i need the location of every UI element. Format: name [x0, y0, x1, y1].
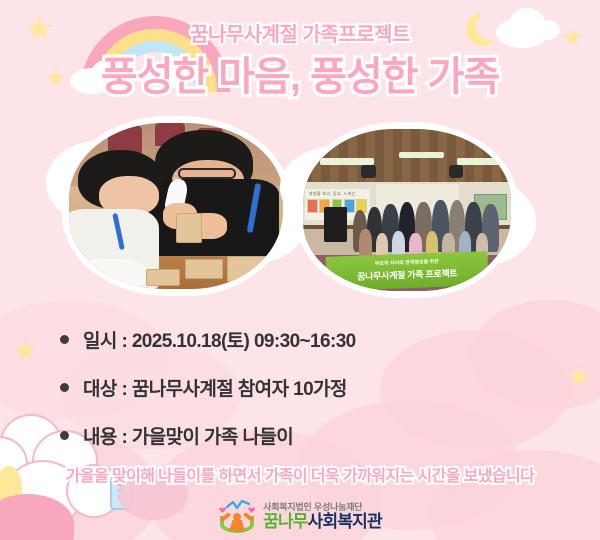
- detail-date: 일시 : 2025.10.18(토) 09:30~16:30: [83, 326, 356, 353]
- photo-board-text: 자연을 보고, 듣고, 느끼는: [309, 191, 356, 197]
- list-item: 대상 : 꿈나무사계절 참여자 10가정: [60, 374, 356, 401]
- organization-logo-icon: [218, 500, 256, 534]
- bullet-icon: [60, 335, 69, 344]
- poster-root: 꿈나무사계절 가족프로젝트 풍성한 마음, 풍성한 가족: [0, 0, 600, 540]
- center-name-green: 꿈나무: [263, 512, 308, 531]
- star-icon: [568, 366, 590, 388]
- foundation-name: 사회복지법인 우성나눔재단: [263, 503, 382, 512]
- photo-banner: 부모와 자녀의 관계형성을 위한 꿈나무사계절 가족 프로젝트: [325, 251, 488, 291]
- detail-content: 내용 : 가을맞이 가족 나들이: [83, 422, 293, 449]
- footer-logo: 사회복지법인 우성나눔재단 꿈나무사회복지관: [0, 500, 600, 534]
- center-name: 꿈나무사회복지관: [263, 513, 382, 531]
- swoosh-icon: [226, 500, 250, 511]
- center-name-navy: 사회복지관: [308, 512, 382, 531]
- bullet-icon: [60, 431, 69, 440]
- star-icon: [14, 340, 36, 362]
- detail-target: 대상 : 꿈나무사계절 참여자 10가정: [83, 374, 347, 401]
- organization-name: 사회복지법인 우성나눔재단 꿈나무사회복지관: [263, 503, 382, 531]
- heart-icon: [248, 507, 255, 513]
- photo-group-banner: 자연을 보고, 듣고, 느끼는: [296, 122, 518, 298]
- poster-caption: 가을을 맞이해 나들이를 하면서 가족이 더욱 가까워지는 시간을 보냈습니다: [0, 462, 600, 486]
- poster-title: 풍성한 마음, 풍성한 가족: [0, 44, 600, 102]
- photo-woodcraft-activity: [62, 116, 290, 296]
- details-list: 일시 : 2025.10.18(토) 09:30~16:30 대상 : 꿈나무사…: [60, 326, 356, 470]
- list-item: 내용 : 가을맞이 가족 나들이: [60, 422, 356, 449]
- bullet-icon: [60, 383, 69, 392]
- list-item: 일시 : 2025.10.18(토) 09:30~16:30: [60, 326, 356, 353]
- heart-icon: [219, 507, 226, 513]
- poster-subtitle: 꿈나무사계절 가족프로젝트: [0, 18, 600, 47]
